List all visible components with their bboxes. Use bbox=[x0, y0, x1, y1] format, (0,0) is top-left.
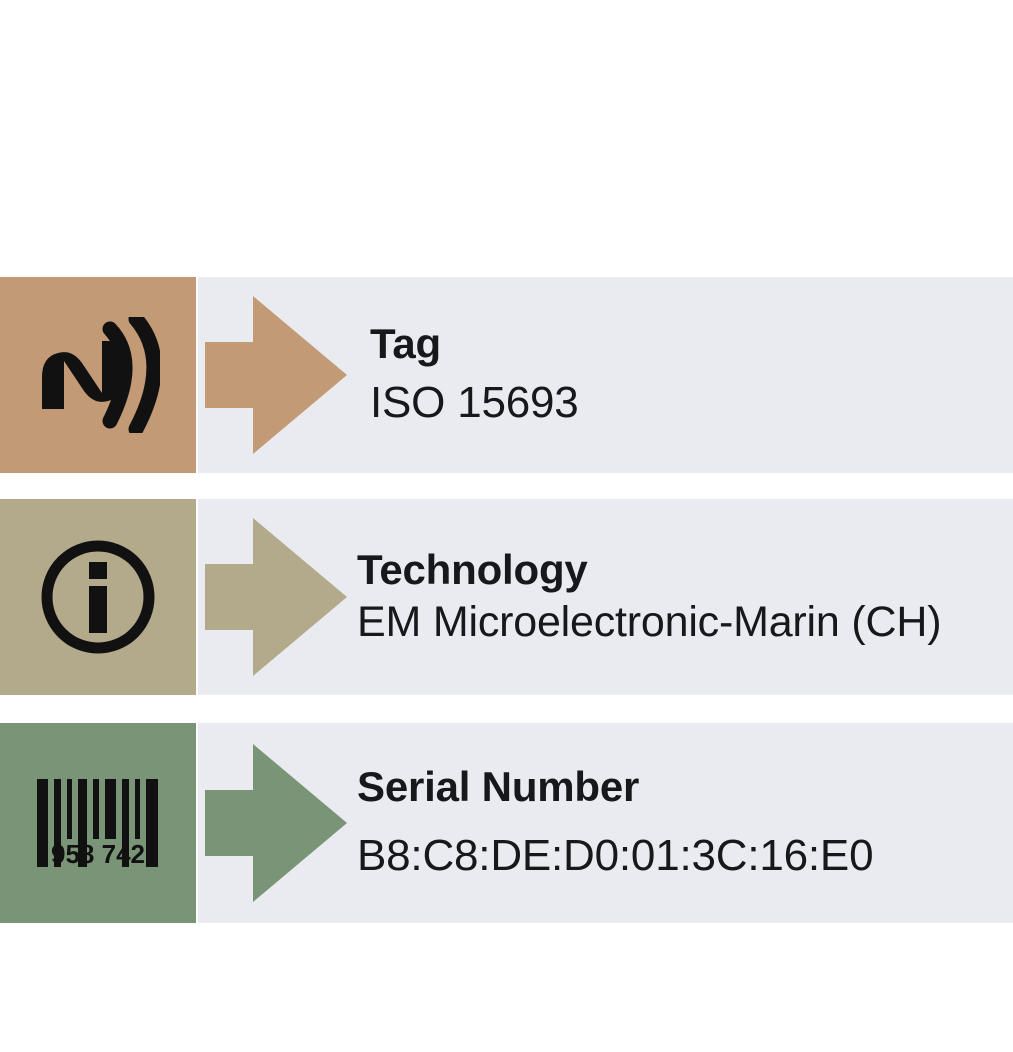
nfc-icon bbox=[36, 317, 160, 433]
text-column-tag: Tag ISO 15693 bbox=[370, 277, 983, 473]
row-value-technology: EM Microelectronic-Marin (CH) bbox=[357, 596, 983, 648]
icon-tile-technology bbox=[0, 499, 196, 695]
text-column-serial-number: Serial Number B8:C8:DE:D0:01:3C:16:E0 bbox=[357, 723, 983, 923]
row-title-serial-number: Serial Number bbox=[357, 762, 983, 812]
arrow-tag bbox=[205, 296, 347, 454]
info-icon bbox=[37, 536, 159, 658]
row-title-tag: Tag bbox=[370, 319, 983, 369]
icon-tile-serial-number: 958 742 bbox=[0, 723, 196, 923]
info-row-tag: Tag ISO 15693 bbox=[0, 277, 1013, 473]
icon-tile-tag bbox=[0, 277, 196, 473]
nfc-tag-info-card: Tag ISO 15693 Technology EM Microelectro… bbox=[0, 0, 1013, 1052]
text-column-technology: Technology EM Microelectronic-Marin (CH) bbox=[357, 499, 983, 695]
barcode-caption: 958 742 bbox=[51, 839, 145, 869]
arrow-technology bbox=[205, 518, 347, 676]
info-row-technology: Technology EM Microelectronic-Marin (CH) bbox=[0, 499, 1013, 695]
info-row-serial-number: 958 742 Serial Number B8:C8:DE:D0:01:3C:… bbox=[0, 723, 1013, 923]
row-title-technology: Technology bbox=[357, 546, 983, 594]
row-value-tag: ISO 15693 bbox=[370, 375, 983, 431]
row-value-serial-number: B8:C8:DE:D0:01:3C:16:E0 bbox=[357, 828, 983, 884]
arrow-serial-number bbox=[205, 744, 347, 902]
barcode-icon: 958 742 bbox=[33, 775, 163, 871]
